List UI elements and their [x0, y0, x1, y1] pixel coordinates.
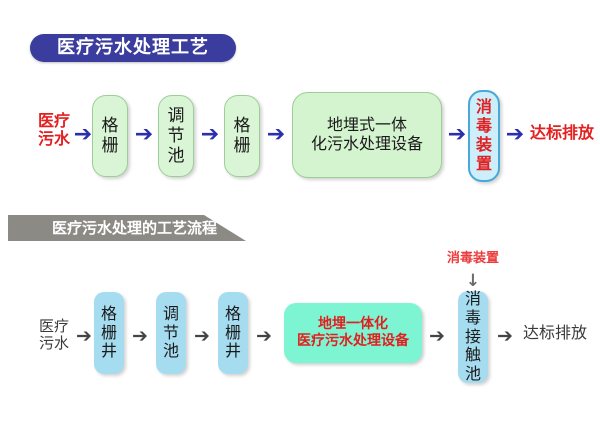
section1-output-label: 达标排放	[526, 124, 598, 142]
section2-arrow-2: ➔	[126, 326, 154, 346]
section1-arrow-5: ➔	[444, 124, 470, 146]
section2-title-text: 医疗污水处理的工艺流程	[52, 221, 217, 236]
section2-arrow-5: ➔	[424, 326, 450, 346]
section2-arrow-3: ➔	[188, 326, 216, 346]
section2-arrow-4: ➔	[250, 326, 278, 346]
section1-title-banner: 医疗污水处理工艺	[30, 34, 236, 62]
section1-arrow-2: ➔	[130, 124, 158, 146]
section2-title-banner: 医疗污水处理的工艺流程	[8, 215, 246, 241]
section2-node-3: 格 栅 井	[218, 292, 248, 374]
section2-callout-arrow: ↓	[458, 272, 488, 290]
section2-arrow-1: ➔	[72, 326, 96, 346]
section2-node-5: 消 毒 接 触 池	[458, 291, 488, 383]
section1-node-5: 消 毒 装 置	[468, 90, 500, 182]
section2-node-1: 格 栅 井	[94, 292, 124, 374]
section2-node-2: 调 节 池	[156, 292, 186, 374]
section1-arrow-6: ➔	[502, 124, 528, 146]
section2-output-label: 达标排放	[518, 324, 592, 342]
section2-arrow-6: ➔	[492, 326, 518, 346]
section1-node-2: 调 节 池	[158, 95, 194, 177]
section1-node-1: 格 栅	[92, 95, 128, 177]
section1-arrow-3: ➔	[196, 124, 224, 146]
section2-node-4: 地埋一体化 医疗污水处理设备	[284, 303, 422, 363]
section1-arrow-4: ➔	[262, 124, 290, 146]
section1-title-text: 医疗污水处理工艺	[57, 39, 209, 57]
section2-callout-label: 消毒装置	[428, 252, 518, 267]
section1-node-3: 格 栅	[224, 95, 260, 177]
section1-node-4: 地埋式一体 化污水处理设备	[292, 92, 442, 178]
